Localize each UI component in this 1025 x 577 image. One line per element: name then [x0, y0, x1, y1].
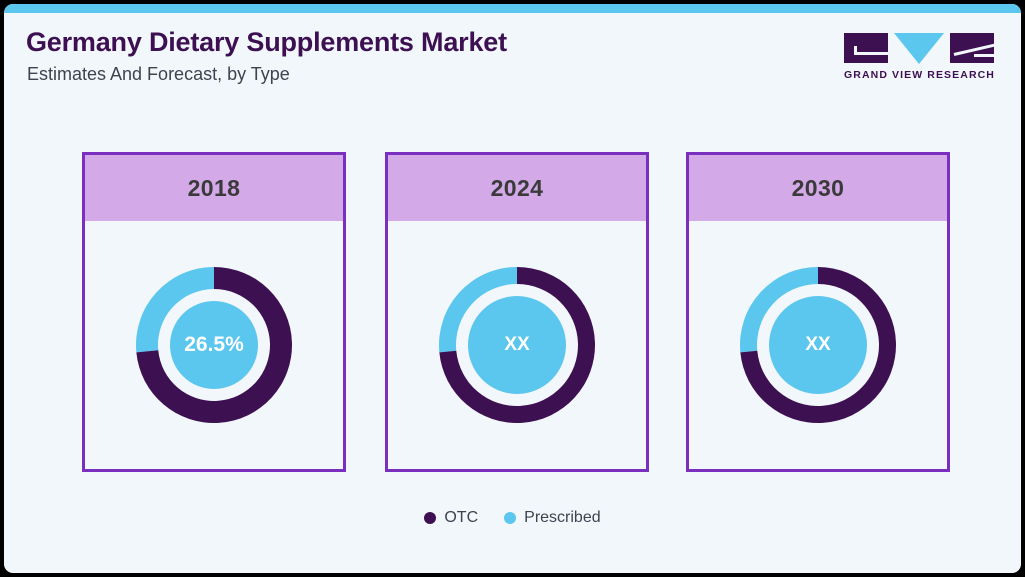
- panel-year-label: 2018: [188, 175, 241, 202]
- legend-label: Prescribed: [524, 509, 600, 527]
- brand-logo: GRAND VIEW RESEARCH: [844, 31, 994, 89]
- logo-r-bar-shape: [974, 54, 994, 57]
- page-subtitle: Estimates And Forecast, by Type: [27, 64, 290, 85]
- panel-body: XX: [388, 221, 646, 469]
- donut-chart: XX: [439, 267, 595, 423]
- legend-label: OTC: [444, 509, 478, 527]
- donut-panel-2018: 2018 26.5%: [82, 152, 346, 472]
- donut-panels: 2018 26.5% 2024 XX 2030: [82, 152, 952, 474]
- header: Germany Dietary Supplements Market Estim…: [4, 13, 1021, 105]
- logo-block-g-icon: [844, 33, 888, 63]
- logo-block-r-icon: [950, 33, 994, 63]
- donut-chart: XX: [740, 267, 896, 423]
- logo-triangle-v-icon: [894, 33, 944, 64]
- panel-header: 2024: [388, 155, 646, 221]
- infographic-card: Germany Dietary Supplements Market Estim…: [4, 4, 1021, 573]
- panel-year-label: 2024: [491, 175, 544, 202]
- logo-g-bar-shape: [854, 52, 888, 55]
- panel-body: XX: [689, 221, 947, 469]
- donut-center-disc: [468, 296, 566, 394]
- legend-item-otc: OTC: [424, 509, 478, 527]
- page-title: Germany Dietary Supplements Market: [26, 27, 507, 58]
- donut-center-disc: [769, 296, 867, 394]
- donut-center-disc: [170, 301, 258, 389]
- logo-wordmark: GRAND VIEW RESEARCH: [844, 69, 994, 81]
- legend-item-prescribed: Prescribed: [504, 509, 600, 527]
- legend-swatch-icon: [504, 512, 516, 524]
- donut-panel-2024: 2024 XX: [385, 152, 649, 472]
- panel-header: 2030: [689, 155, 947, 221]
- top-accent-rule: [4, 4, 1021, 13]
- logo-g-stem-shape: [854, 46, 857, 55]
- legend-swatch-icon: [424, 512, 436, 524]
- donut-panel-2030: 2030 XX: [686, 152, 950, 472]
- panel-year-label: 2030: [792, 175, 845, 202]
- panel-header: 2018: [85, 155, 343, 221]
- panel-body: 26.5%: [85, 221, 343, 469]
- logo-marks: [844, 31, 994, 65]
- chart-legend: OTC Prescribed: [4, 509, 1021, 527]
- donut-chart: 26.5%: [136, 267, 292, 423]
